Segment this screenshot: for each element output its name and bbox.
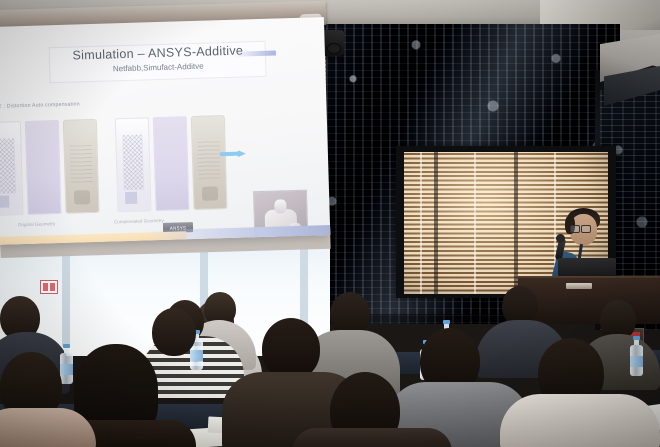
slide-part-image <box>25 120 62 215</box>
water-bottle <box>60 344 73 384</box>
blind-mullion <box>514 152 518 294</box>
slide-caption-compensated: Compensated Geometry <box>114 218 164 224</box>
loudspeaker-cone <box>327 43 341 54</box>
laptop-lid <box>558 258 616 277</box>
slide-part-row <box>0 115 230 217</box>
wall-notice-sign <box>40 280 58 294</box>
podium-nameplate <box>566 283 592 289</box>
slide-content: Simulation – ANSYS-Additive Netfabb,Simu… <box>0 17 330 245</box>
arrow-right-icon <box>220 149 246 157</box>
slide-part-image <box>0 121 24 216</box>
wall-loudspeaker <box>322 30 344 56</box>
slide-part-image <box>153 116 190 211</box>
blind-mullion <box>434 152 438 294</box>
slide-part-image <box>191 115 228 210</box>
slide-caption-original: Original Geometry <box>18 221 55 227</box>
blind-cord <box>420 152 422 294</box>
projection-screen: Simulation – ANSYS-Additive Netfabb,Simu… <box>0 17 330 245</box>
glasses-icon <box>570 225 590 231</box>
slide-part-image <box>63 119 100 214</box>
slide-title-accent <box>234 51 276 57</box>
microphone-head <box>556 234 565 243</box>
water-bottle <box>630 336 643 376</box>
slide-section-label: O-BE : Distortion Auto compensation <box>0 101 80 110</box>
blind-cord <box>474 152 476 294</box>
slide-part-image <box>115 117 152 212</box>
presentation-photo-scene: Simulation – ANSYS-Additive Netfabb,Simu… <box>0 0 660 447</box>
